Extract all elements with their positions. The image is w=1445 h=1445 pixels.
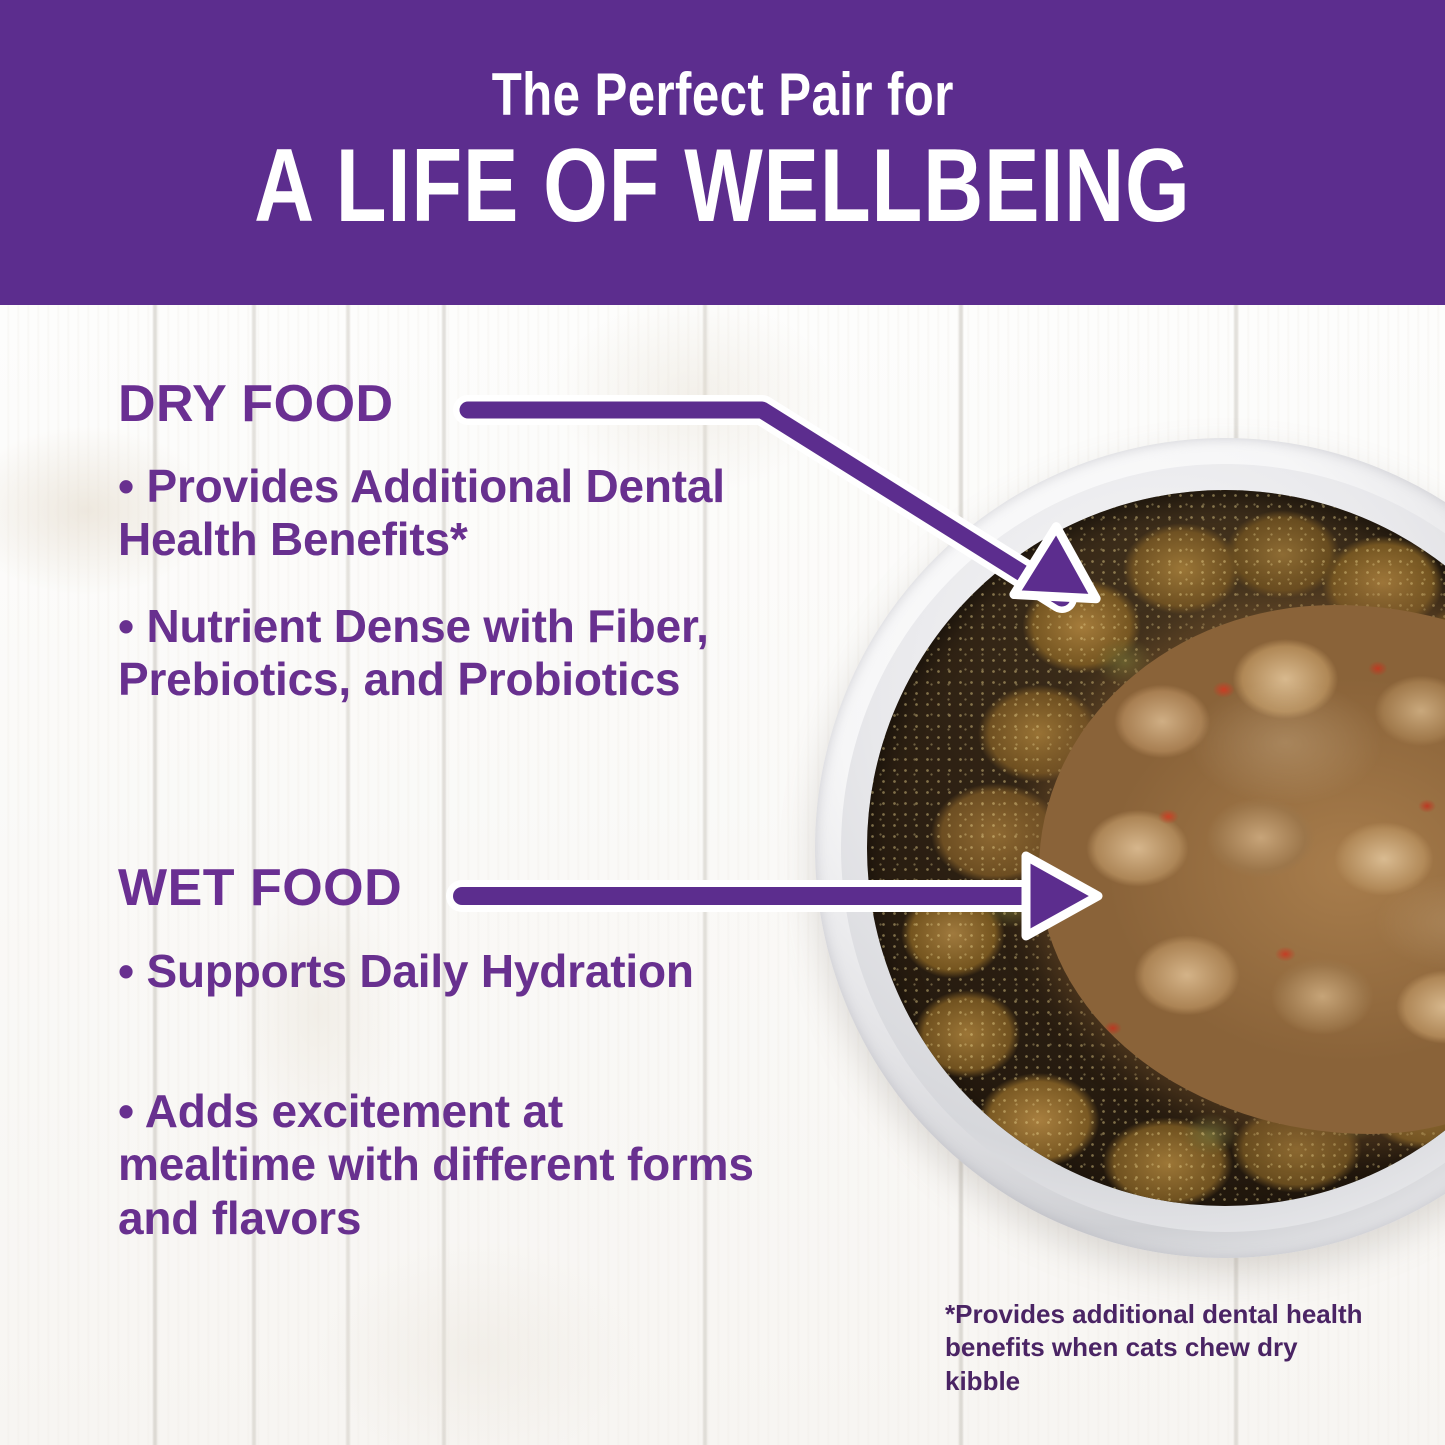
footnote-text: *Provides additional dental health benef…	[945, 1298, 1375, 1398]
header-band: The Perfect Pair for A LIFE OF WELLBEING	[0, 0, 1445, 305]
wet-food-bullet-2: • Adds excitement at mealtime with diffe…	[118, 1085, 758, 1245]
dry-food-bullet-1: • Provides Additional Dental Health Bene…	[118, 460, 788, 567]
header-subtitle: The Perfect Pair for	[491, 63, 953, 126]
dry-food-bullet-2: • Nutrient Dense with Fiber, Prebiotics,…	[118, 600, 798, 707]
promo-infographic: The Perfect Pair for A LIFE OF WELLBEING	[0, 0, 1445, 1445]
wet-food-bullet-1: • Supports Daily Hydration	[118, 945, 738, 998]
wet-food-heading: WET FOOD	[118, 862, 818, 914]
dry-food-heading: DRY FOOD	[118, 378, 818, 430]
header-title: A LIFE OF WELLBEING	[254, 132, 1191, 241]
